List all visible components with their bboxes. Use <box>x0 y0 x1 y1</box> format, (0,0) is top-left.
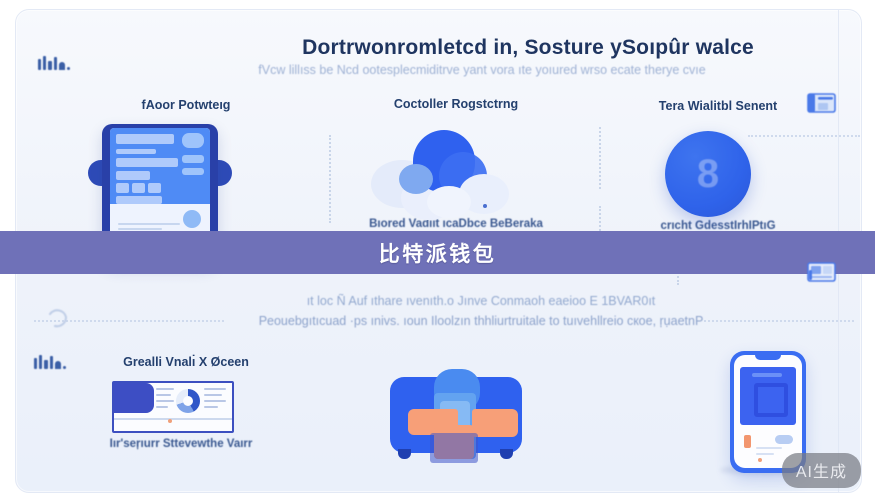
donut-chart-shape <box>176 389 200 413</box>
screenshot-stage: Dortrwonromletcd in, Sosture ySoıpûr wal… <box>0 0 875 500</box>
banner-title: 比特派钱包 <box>379 238 497 268</box>
column-title-left-top: fAoor Potwteıg <box>86 98 286 112</box>
title-banner: 比特派钱包 <box>0 231 875 274</box>
dotted-divider-horizontal-3 <box>704 320 854 323</box>
tiny-glyph-cluster-icon <box>34 355 66 369</box>
window-card-icon <box>807 261 837 285</box>
page-title: Dortrwonromletcd in, Sosture ySoıpûr wal… <box>268 36 788 60</box>
page-subtitle: fVcw lillıss be Ncd ootesplecmiditrve ya… <box>192 63 772 77</box>
analytics-card-illustration <box>112 381 234 433</box>
device-screen <box>110 128 210 248</box>
phone-screen <box>734 355 802 468</box>
cloud-illustration <box>371 122 551 232</box>
chart-baseline <box>114 418 232 420</box>
column-caption-left-bottom: Iır'seŗıurr Sttevewthe Vaırr <box>71 438 291 450</box>
phone-notch <box>755 355 781 360</box>
device-side-shape-right <box>218 160 232 186</box>
device-side-shape-left <box>88 160 102 186</box>
tiny-glyph-cluster-icon <box>38 56 70 70</box>
chart-block-shape <box>114 383 154 413</box>
window-card-icon <box>807 92 837 116</box>
dotted-divider-horizontal-1 <box>748 135 860 138</box>
device-fab-button <box>183 210 201 228</box>
dotted-divider-vertical-1 <box>599 127 602 189</box>
column-title-middle-top: Coctoller Rogstctrng <box>356 97 556 111</box>
circle-badge-illustration: 8 <box>665 131 751 217</box>
dotted-divider-vertical-3 <box>329 135 332 223</box>
phone-list-tag <box>744 435 751 448</box>
phone-list-pill <box>775 435 793 444</box>
badge-glyph: 8 <box>697 152 719 197</box>
swirl-icon <box>46 306 72 332</box>
hands-device-illustration <box>390 363 522 459</box>
mid-band-line-2: Peouebgıtıcuad ·ps ınivs. ıoun Iloolzın … <box>166 314 796 328</box>
column-title-left-bottom: Grealli Vnalı̇ X Øceen <box>86 355 286 369</box>
ai-generated-watermark: AI生成 <box>782 453 861 488</box>
qr-code-panel <box>740 367 796 425</box>
mid-band-line-1: ıt loc Ñ Auf ıthare ıvenıth.o Jınve Conm… <box>186 294 776 308</box>
column-title-right-top: Tera Wialitbl Senent <box>618 99 818 113</box>
